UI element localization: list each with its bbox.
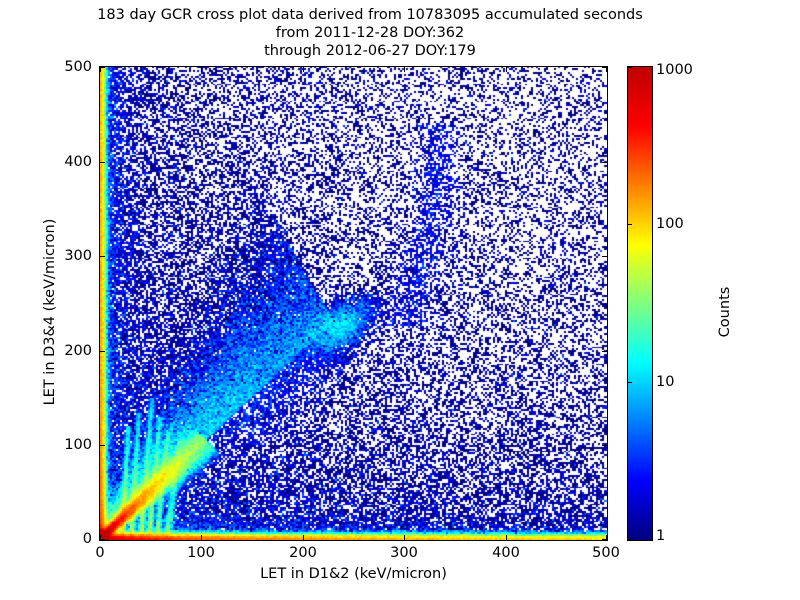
x-tick-mark (404, 535, 405, 540)
y-tick-mark (602, 256, 607, 257)
colorbar-tick-mark (628, 382, 632, 383)
y-tick-mark (100, 162, 105, 163)
y-tick-mark (100, 67, 105, 68)
x-tick-label: 500 (592, 545, 620, 561)
y-tick-mark (100, 445, 105, 446)
figure-canvas: 183 day GCR cross plot data derived from… (0, 0, 800, 600)
y-tick-label: 100 (40, 437, 92, 453)
title-line-2: from 2011-12-28 DOY:362 (0, 24, 740, 42)
y-tick-mark (602, 162, 607, 163)
colorbar-tick-label: 1000 (656, 62, 693, 78)
y-tick-mark (100, 256, 105, 257)
x-tick-label: 300 (390, 545, 418, 561)
colorbar-tick-label: 10 (656, 374, 674, 390)
x-tick-mark (201, 535, 202, 540)
colorbar-tick-label: 100 (656, 216, 684, 232)
y-tick-label: 500 (40, 59, 92, 75)
x-tick-label: 400 (492, 545, 520, 561)
x-axis-label: LET in D1&2 (keV/micron) (99, 566, 608, 582)
figure-title: 183 day GCR cross plot data derived from… (0, 6, 740, 60)
colorbar (627, 66, 653, 541)
x-tick-mark (201, 67, 202, 72)
y-axis-label: LET in D3&4 (keV/micron) (42, 202, 58, 422)
colorbar-gradient (628, 67, 652, 540)
colorbar-tick-mark (628, 539, 632, 540)
x-tick-label: 0 (95, 545, 104, 561)
x-tick-label: 200 (289, 545, 317, 561)
plot-axes-frame (99, 66, 608, 541)
y-tick-mark (602, 445, 607, 446)
y-tick-mark (100, 351, 105, 352)
colorbar-tick-mark (628, 224, 632, 225)
x-tick-mark (303, 535, 304, 540)
x-tick-mark (506, 535, 507, 540)
title-line-3: through 2012-06-27 DOY:179 (0, 42, 740, 60)
colorbar-tick-label: 1 (656, 528, 665, 544)
x-tick-mark (303, 67, 304, 72)
colorbar-tick-mark (628, 67, 632, 68)
y-tick-mark (602, 67, 607, 68)
y-tick-mark (602, 539, 607, 540)
x-tick-mark (506, 67, 507, 72)
y-tick-mark (100, 539, 105, 540)
y-tick-label: 400 (40, 154, 92, 170)
x-tick-label: 100 (187, 545, 215, 561)
scatter-density-plot (100, 67, 607, 540)
title-line-1: 183 day GCR cross plot data derived from… (0, 6, 740, 24)
y-tick-label: 0 (40, 531, 92, 547)
x-tick-mark (404, 67, 405, 72)
y-tick-mark (602, 351, 607, 352)
colorbar-title: Counts (717, 212, 733, 412)
